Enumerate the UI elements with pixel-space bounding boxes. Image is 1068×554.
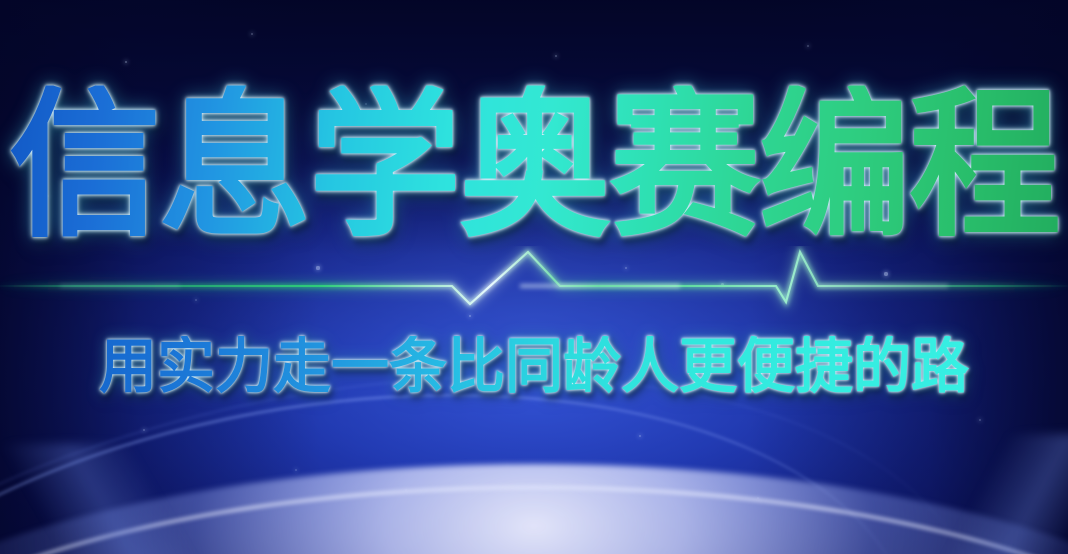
ecg-heartbeat-icon <box>0 246 1068 326</box>
star-speck <box>251 33 253 35</box>
sub-title-row: 用实力走一条比同龄人更便捷的路 用实力走一条比同龄人更便捷的路 <box>0 330 1068 402</box>
light-streak-right <box>878 434 1068 554</box>
sub-title: 用实力走一条比同龄人更便捷的路 <box>99 336 969 396</box>
star-speck <box>125 61 128 64</box>
star-speck <box>555 55 557 57</box>
main-title: 信息学奥赛编程 <box>9 85 1059 246</box>
star-speck <box>807 45 809 47</box>
main-title-row: 信息学奥赛编程 信息学奥赛编程 <box>0 78 1068 254</box>
promo-banner: 信息学奥赛编程 信息学奥赛编程 <box>0 0 1068 554</box>
light-streak-left <box>0 444 200 554</box>
